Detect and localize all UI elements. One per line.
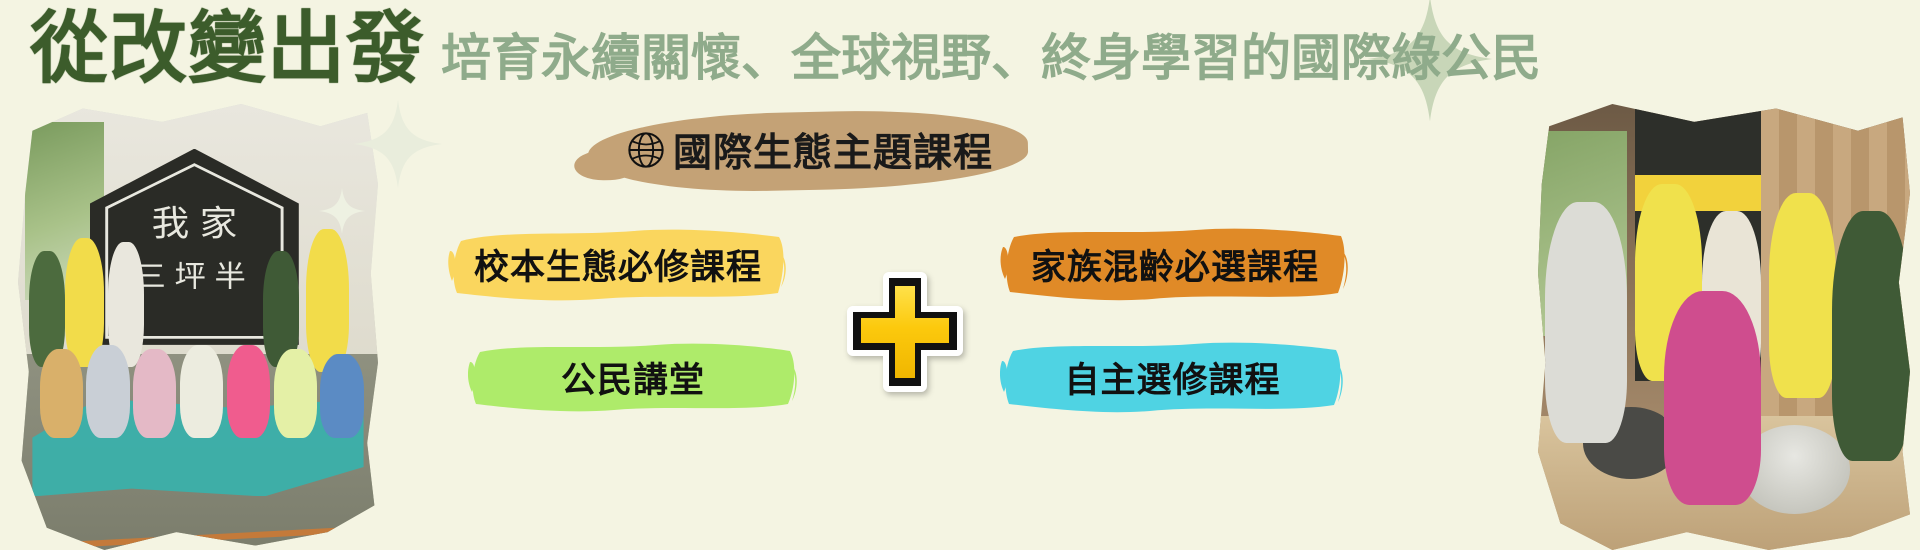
featured-course-label: 國際生態主題課程 [600,124,1020,176]
title-main: 從改變出發 [30,8,425,90]
course-box-label: 校本生態必修課程 [474,239,762,290]
page-title: 從改變出發 培育永續關懷、全球視野、終身學習的國際綠公民 [30,8,1541,90]
title-subtitle: 培育永續關懷、全球視野、終身學習的國際綠公民 [441,31,1541,86]
course-box-citizen-lecture[interactable]: 公民講堂 [468,338,798,416]
course-box-elective[interactable]: 自主選修課程 [1000,338,1345,416]
course-box-label: 家族混齡必選課程 [1031,239,1319,290]
svg-text:三 坪 半: 三 坪 半 [135,260,246,293]
globe-icon [627,131,665,169]
course-box-family-mixed-age[interactable]: 家族混齡必選課程 [1000,223,1350,305]
course-box-label: 自主選修課程 [1064,352,1280,403]
banner-root: 從改變出發 培育永續關懷、全球視野、終身學習的國際綠公民 我 家 三 坪 半 [0,0,1920,550]
course-box-label: 公民講堂 [561,352,705,403]
photo-right [1538,104,1910,550]
svg-text:我 家: 我 家 [152,203,238,243]
featured-course-text: 國際生態主題課程 [673,122,993,178]
course-box-school-required[interactable]: 校本生態必修課程 [448,223,788,305]
plus-icon [845,272,965,392]
photo-left: 我 家 三 坪 半 [18,104,378,550]
